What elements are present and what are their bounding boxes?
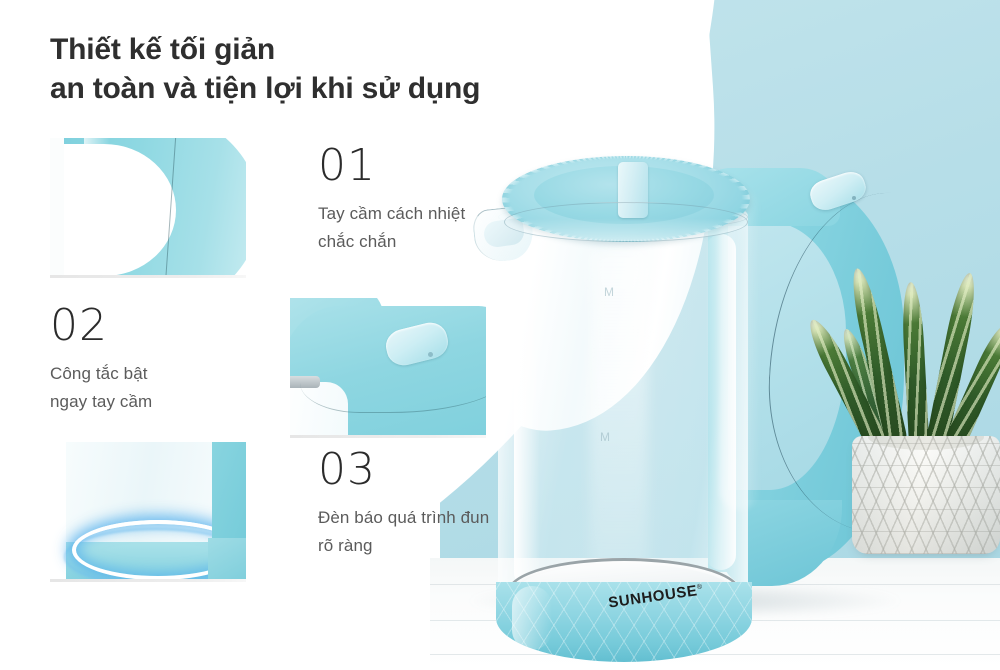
feature-thumbnail-switch <box>290 298 486 438</box>
feature-description: Công tắc bật ngay tay cầm <box>50 360 246 415</box>
base-highlight <box>512 586 552 650</box>
glass-highlight-right <box>706 234 736 570</box>
switch-indicator-dot <box>428 352 433 357</box>
decorative-snake-plant <box>852 170 1000 590</box>
feature-divider <box>290 435 486 438</box>
handle-lower-shape <box>208 538 246 582</box>
feature-thumbnail-led <box>50 442 246 582</box>
registered-trademark-mark: ® <box>696 583 703 591</box>
glass-highlight-left <box>514 226 540 586</box>
kettle-lid-lip <box>504 202 748 242</box>
feature-block-02: 02 Công tắc bật ngay tay cầm <box>50 298 486 438</box>
feature-thumbnail-handle <box>50 138 246 278</box>
handle-highlight <box>84 138 110 278</box>
feature-divider <box>50 275 246 278</box>
feature-number: 03 <box>318 448 489 492</box>
feature-text-01: 01 Tay cầm cách nhiệt chắc chắn <box>318 138 465 255</box>
plant-leaf <box>901 282 930 443</box>
basket-shading <box>852 436 1000 554</box>
feature-number: 02 <box>50 304 246 348</box>
volume-mark: M <box>600 430 611 444</box>
feature-text-02: 02 Công tắc bật ngay tay cầm <box>50 298 246 415</box>
feature-block-03: 03 Đèn báo quá trình đun rõ ràng <box>50 442 489 582</box>
feature-description: Đèn báo quá trình đun rõ ràng <box>318 504 489 559</box>
woven-plant-basket <box>852 436 1000 554</box>
feature-text-03: 03 Đèn báo quá trình đun rõ ràng <box>318 442 489 559</box>
page-title: Thiết kế tối giản an toàn và tiện lợi kh… <box>50 30 570 108</box>
glass-highlight-center <box>590 250 648 570</box>
feature-number: 01 <box>318 144 465 188</box>
feature-block-01: 01 Tay cầm cách nhiệt chắc chắn <box>50 138 465 278</box>
product-feature-banner: Thiết kế tối giản an toàn và tiện lợi kh… <box>0 0 1000 670</box>
feature-divider <box>50 579 246 582</box>
volume-mark: M <box>604 285 615 299</box>
feature-description: Tay cầm cách nhiệt chắc chắn <box>318 200 465 255</box>
